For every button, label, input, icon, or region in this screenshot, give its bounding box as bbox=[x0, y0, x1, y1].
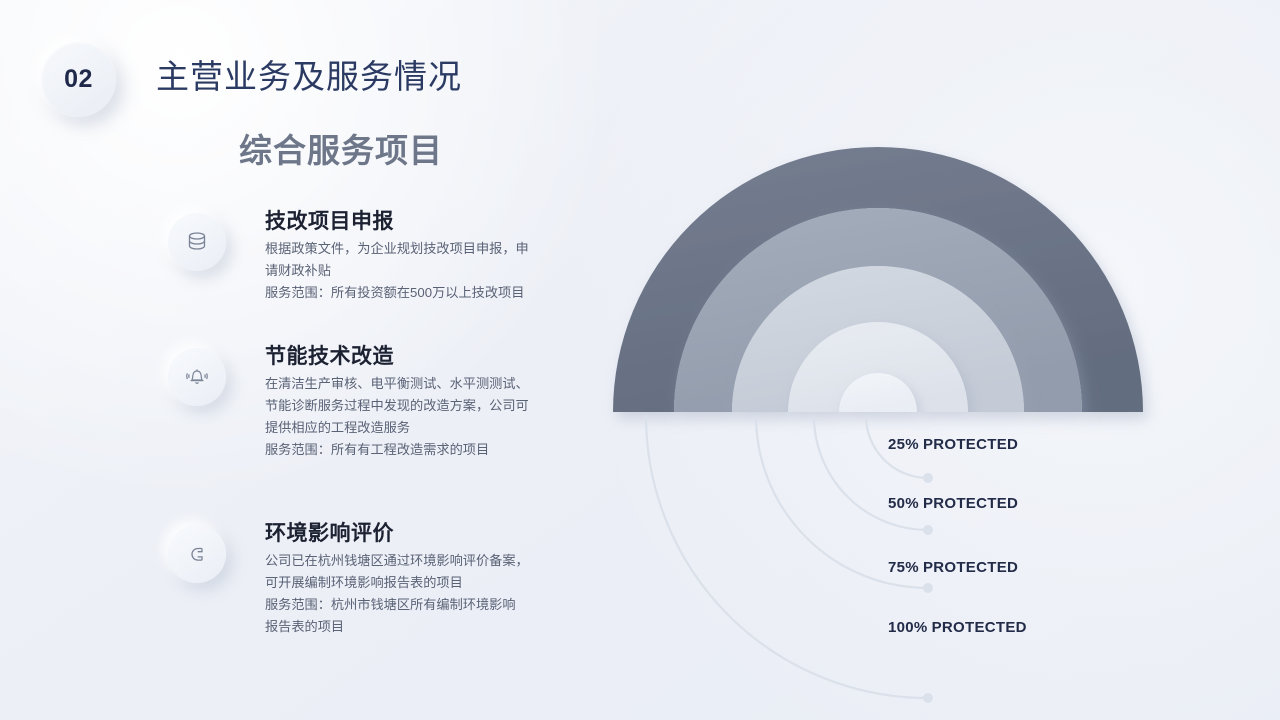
legend-text: PROTECTED bbox=[923, 559, 1018, 576]
legend-item-75: 75%PROTECTED bbox=[888, 559, 1018, 576]
legend-percent: 75% bbox=[888, 559, 919, 576]
legend-percent: 50% bbox=[888, 495, 919, 512]
legend-text: PROTECTED bbox=[923, 495, 1018, 512]
slide-root: 02 主营业务及服务情况 综合服务项目 技改项目申报 根据政策文件，为企业规划技… bbox=[0, 0, 1280, 720]
legend-text: PROTECTED bbox=[923, 436, 1018, 453]
chart-legend: 25%PROTECTED 50%PROTECTED 75%PROTECTED 1… bbox=[0, 0, 1280, 720]
legend-text: PROTECTED bbox=[932, 619, 1027, 636]
legend-percent: 25% bbox=[888, 436, 919, 453]
legend-item-50: 50%PROTECTED bbox=[888, 495, 1018, 512]
legend-item-100: 100%PROTECTED bbox=[888, 619, 1027, 636]
legend-percent: 100% bbox=[888, 619, 928, 636]
legend-item-25: 25%PROTECTED bbox=[888, 436, 1018, 453]
